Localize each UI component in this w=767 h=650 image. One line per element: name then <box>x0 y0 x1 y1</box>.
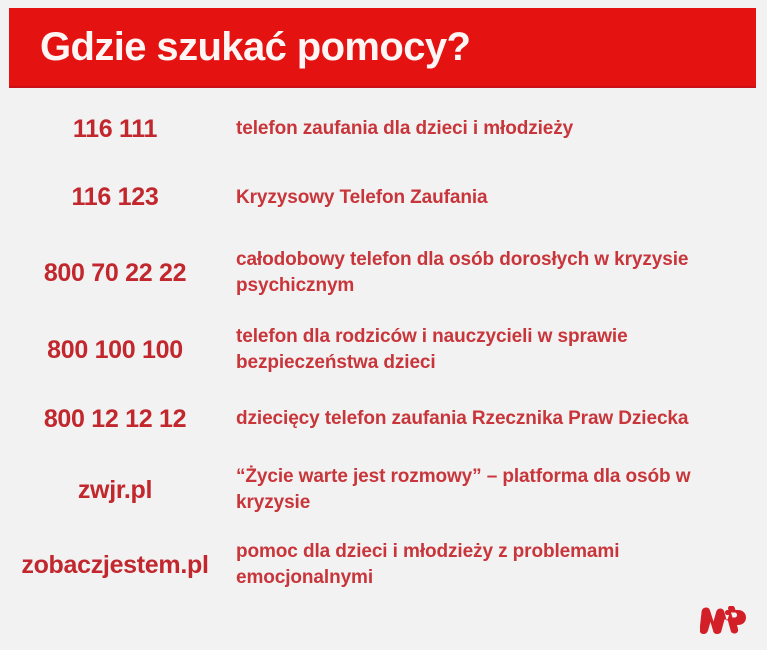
contact-description: telefon dla rodziców i nauczycieli w spr… <box>236 324 767 375</box>
header-banner: Gdzie szukać pomocy? <box>9 8 756 88</box>
contact-row: 800 70 22 22 całodobowy telefon dla osób… <box>0 233 767 313</box>
contact-number: 116 111 <box>0 115 236 144</box>
contact-row: 116 111 telefon zaufania dla dzieci i mł… <box>0 96 767 162</box>
contact-number: zobaczjestem.pl <box>0 551 236 580</box>
contact-number: 800 100 100 <box>0 336 236 365</box>
contact-description: Kryzysowy Telefon Zaufania <box>236 185 767 211</box>
contact-row: zwjr.pl “Życie warte jest rozmowy” – pla… <box>0 451 767 529</box>
contact-row: 116 123 Kryzysowy Telefon Zaufania <box>0 162 767 233</box>
contact-description: “Życie warte jest rozmowy” – platforma d… <box>236 464 767 515</box>
contact-list: 116 111 telefon zaufania dla dzieci i mł… <box>0 96 767 601</box>
contact-number: 800 70 22 22 <box>0 259 236 288</box>
contact-description: dziecięcy telefon zaufania Rzecznika Pra… <box>236 406 767 432</box>
page-title: Gdzie szukać pomocy? <box>40 27 470 67</box>
wp-logo-icon <box>700 606 746 638</box>
contact-description: całodobowy telefon dla osób dorosłych w … <box>236 247 767 298</box>
contact-description: pomoc dla dzieci i młodzieży z problemam… <box>236 539 767 590</box>
contact-row: 800 100 100 telefon dla rodziców i naucz… <box>0 313 767 387</box>
infographic-root: Gdzie szukać pomocy? 116 111 telefon zau… <box>0 0 767 650</box>
contact-row: zobaczjestem.pl pomoc dla dzieci i młodz… <box>0 529 767 601</box>
contact-number: 116 123 <box>0 183 236 212</box>
contact-number: 800 12 12 12 <box>0 405 236 434</box>
contact-number: zwjr.pl <box>0 476 236 505</box>
contact-row: 800 12 12 12 dziecięcy telefon zaufania … <box>0 387 767 451</box>
contact-description: telefon zaufania dla dzieci i młodzieży <box>236 116 767 142</box>
